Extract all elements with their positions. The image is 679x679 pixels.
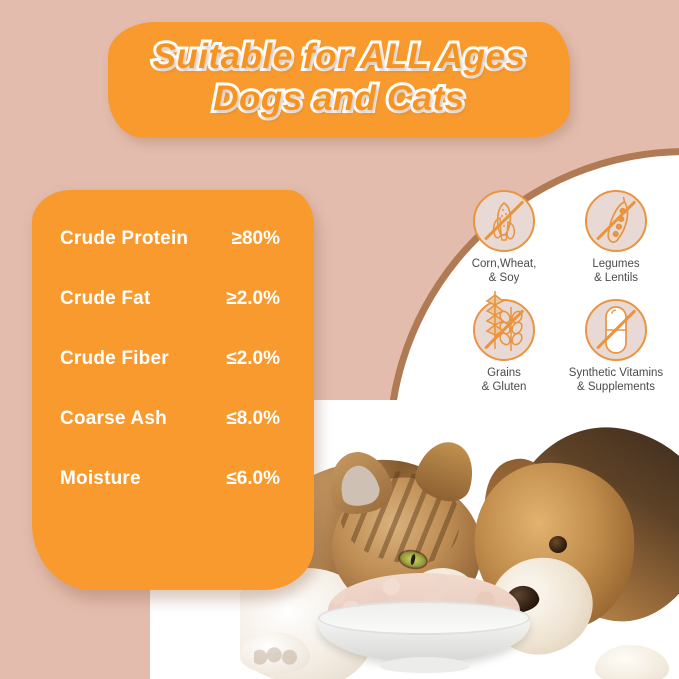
- product-infographic: Suitable for ALL Ages Dogs and Cats Crud…: [0, 0, 679, 679]
- free-from-badge-grid: Corn,Wheat, & Soy Legumes & Lenti: [452, 190, 668, 394]
- pea-pod-icon: [585, 190, 647, 252]
- dog-eye: [549, 536, 567, 553]
- headline-text: Suitable for ALL Ages Dogs and Cats: [108, 36, 570, 120]
- dog-paw: [595, 645, 669, 679]
- badge-label: Grains & Gluten: [452, 366, 556, 394]
- headline-banner: Suitable for ALL Ages Dogs and Cats: [108, 22, 570, 138]
- wheat-icon: [473, 299, 535, 361]
- nutrition-label: Moisture: [60, 468, 220, 490]
- badge-label: Legumes & Lentils: [564, 257, 668, 285]
- food-dish-foot: [380, 657, 470, 673]
- corn-icon: [473, 190, 535, 252]
- nutrition-row: Crude Protein ≥80%: [32, 228, 314, 288]
- nutrition-row: Moisture ≤6.0%: [32, 468, 314, 528]
- nutrition-label: Crude Fiber: [60, 348, 220, 370]
- capsule-icon: [585, 299, 647, 361]
- free-from-badge-vitamins: Synthetic Vitamins & Supplements: [564, 299, 668, 394]
- badge-label: Corn,Wheat, & Soy: [452, 257, 556, 285]
- free-from-badge-legumes: Legumes & Lentils: [564, 190, 668, 285]
- nutrition-value: ≤6.0%: [220, 468, 298, 490]
- nutrition-row: Crude Fat ≥2.0%: [32, 288, 314, 348]
- food-dish-rim: [318, 601, 530, 635]
- nutrition-value: ≥80%: [220, 228, 298, 250]
- free-from-badge-grains: Grains & Gluten: [452, 299, 556, 394]
- nutrition-label: Crude Protein: [60, 228, 220, 250]
- free-from-badge-corn: Corn,Wheat, & Soy: [452, 190, 556, 285]
- nutrition-value: ≤2.0%: [220, 348, 298, 370]
- nutrition-panel: Crude Protein ≥80% Crude Fat ≥2.0% Crude…: [32, 190, 314, 590]
- nutrition-label: Coarse Ash: [60, 408, 220, 430]
- nutrition-row: Coarse Ash ≤8.0%: [32, 408, 314, 468]
- nutrition-value: ≥2.0%: [220, 288, 298, 310]
- nutrition-row: Crude Fiber ≤2.0%: [32, 348, 314, 408]
- nutrition-label: Crude Fat: [60, 288, 220, 310]
- badge-label: Synthetic Vitamins & Supplements: [564, 366, 668, 394]
- nutrition-value: ≤8.0%: [220, 408, 298, 430]
